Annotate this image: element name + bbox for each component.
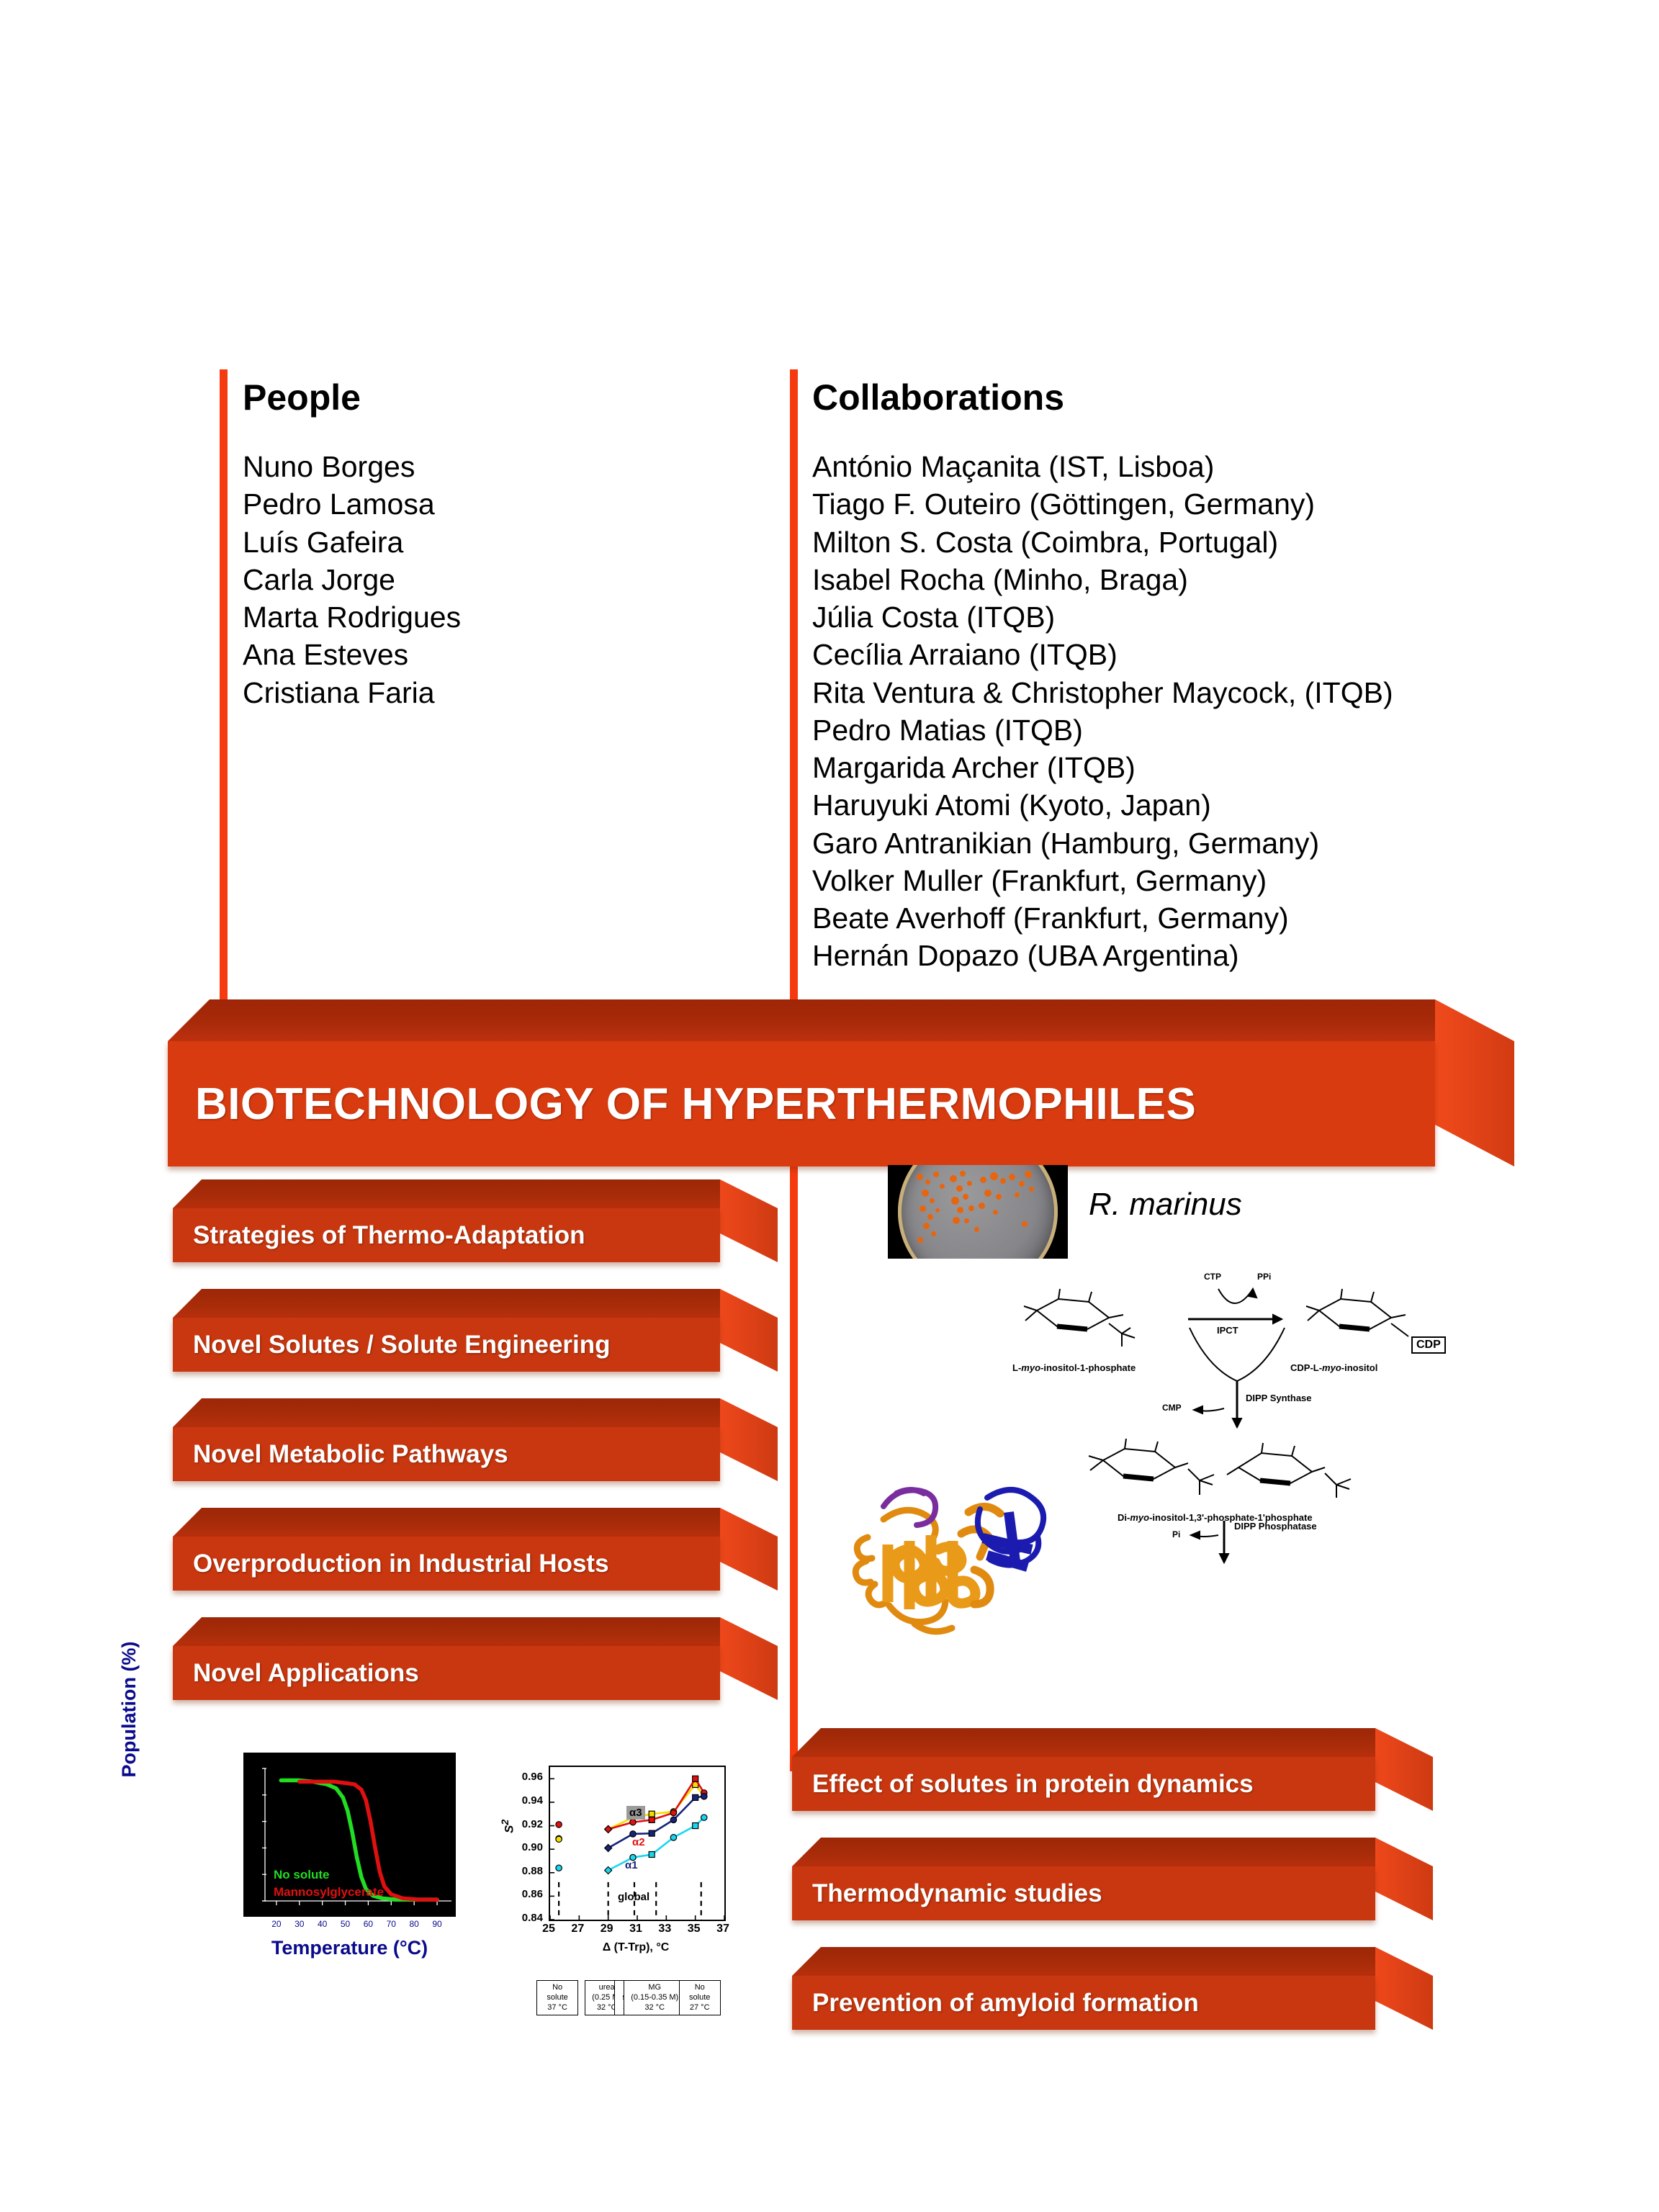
list-item: Rita Ventura & Christopher Maycock, (ITQ… xyxy=(812,674,1393,711)
bar-side-face xyxy=(720,1398,778,1481)
bar-front-face: Novel Solutes / Solute Engineering xyxy=(173,1318,720,1372)
bar-side-face xyxy=(720,1179,778,1262)
cofactor-ppi-label: PPi xyxy=(1257,1272,1271,1282)
protein-melting-curve-chart: Population (%) Temperature (°C) 02040608… xyxy=(164,1744,463,1960)
melt-y-tick: 40 xyxy=(219,1843,238,1851)
s2-x-tick: 31 xyxy=(624,1923,648,1935)
melt-x-tick: 20 xyxy=(266,1919,287,1929)
melt-y-tick: 100 xyxy=(219,1763,238,1772)
topic-bar-metabolic-pathways[interactable]: Novel Metabolic Pathways xyxy=(173,1398,778,1481)
list-item: Haruyuki Atomi (Kyoto, Japan) xyxy=(812,786,1393,824)
byproduct-pi-label: Pi xyxy=(1172,1529,1180,1539)
banner-top-bevel xyxy=(168,999,1435,1041)
topic-label: Strategies of Thermo-Adaptation xyxy=(193,1221,585,1250)
list-item: Hernán Dopazo (UBA Argentina) xyxy=(812,937,1393,974)
center-vertical-rule-lower xyxy=(790,1166,798,1771)
melt-x-tick: 50 xyxy=(335,1919,356,1929)
list-item: Marta Rodrigues xyxy=(243,598,461,636)
condition-box: Nosolute27 °C xyxy=(679,1980,721,2015)
list-item: Pedro Matias (ITQB) xyxy=(812,711,1393,749)
pathway-product1-label: CDP-L-myo-inositol xyxy=(1290,1362,1377,1373)
s2-x-tick: 25 xyxy=(536,1923,561,1935)
s2-x-tick: 37 xyxy=(711,1923,735,1935)
melt-y-tick: 20 xyxy=(219,1869,238,1878)
melt-x-tick: 40 xyxy=(312,1919,333,1929)
list-item: Cristiana Faria xyxy=(243,674,461,711)
condition-line: 27 °C xyxy=(681,2003,719,2013)
pathway-substrate-label: L-myo-inositol-1-phosphate xyxy=(1012,1362,1136,1373)
list-item: Luís Gafeira xyxy=(243,523,461,561)
topic-label: Thermodynamic studies xyxy=(812,1879,1102,1908)
melt-x-tick: 60 xyxy=(357,1919,379,1929)
topic-bar-overproduction[interactable]: Overproduction in Industrial Hosts xyxy=(173,1508,778,1591)
bar-side-face xyxy=(720,1617,778,1700)
organism-label: R. marinus xyxy=(1089,1187,1242,1223)
bar-top-bevel xyxy=(173,1289,720,1318)
bar-top-bevel xyxy=(792,1728,1375,1757)
condition-line: (0.15-0.35 M) xyxy=(626,1993,683,2003)
topic-label: Novel Metabolic Pathways xyxy=(193,1440,508,1469)
melt-x-tick: 80 xyxy=(403,1919,425,1929)
bar-front-face: Novel Applications xyxy=(173,1646,720,1700)
list-item: António Maçanita (IST, Lisboa) xyxy=(812,448,1393,485)
s2-y-tick: 0.88 xyxy=(505,1865,543,1877)
bar-top-bevel xyxy=(173,1617,720,1646)
condition-box: Nosolute37 °C xyxy=(536,1980,578,2015)
s2-y-tick: 0.94 xyxy=(505,1794,543,1807)
condition-line: solute xyxy=(681,1993,719,2003)
bar-front-face: Strategies of Thermo-Adaptation xyxy=(173,1208,720,1262)
list-item: Tiago F. Outeiro (Göttingen, Germany) xyxy=(812,485,1393,523)
melt-y-tick: 80 xyxy=(219,1790,238,1799)
petri-dish-photo xyxy=(888,1165,1068,1259)
melt-chart-xlabel: Temperature (°C) xyxy=(243,1937,456,1959)
melt-y-tick: 0 xyxy=(219,1896,238,1905)
bar-side-face xyxy=(720,1289,778,1372)
byproduct-cmp-label: CMP xyxy=(1162,1403,1182,1413)
melt-legend-mannosylglycerate: Mannosylglycerate xyxy=(274,1885,384,1899)
melt-y-tick: 60 xyxy=(219,1817,238,1825)
condition-line: No xyxy=(539,1983,576,1993)
list-item: Isabel Rocha (Minho, Braga) xyxy=(812,561,1393,598)
bar-top-bevel xyxy=(792,1947,1375,1976)
topic-label: Prevention of amyloid formation xyxy=(812,1989,1199,2018)
topic-bar-amyloid-prevention[interactable]: Prevention of amyloid formation xyxy=(792,1947,1433,2030)
cofactor-ctp-label: CTP xyxy=(1204,1272,1221,1282)
bar-front-face: Thermodynamic studies xyxy=(792,1866,1375,1920)
s2-x-tick: 27 xyxy=(565,1923,590,1935)
banner-front-face: BIOTECHNOLOGY OF HYPERTHERMOPHILES xyxy=(168,1041,1435,1166)
cdp-box: CDP xyxy=(1411,1336,1446,1354)
condition-box: MG(0.15-0.35 M)32 °C xyxy=(624,1980,685,2015)
condition-line: solute xyxy=(539,1993,576,2003)
topic-bar-novel-applications[interactable]: Novel Applications xyxy=(173,1617,778,1700)
people-list: Nuno Borges Pedro Lamosa Luís Gafeira Ca… xyxy=(243,448,461,711)
left-vertical-rule xyxy=(220,369,228,1025)
list-item: Carla Jorge xyxy=(243,561,461,598)
bar-front-face: Overproduction in Industrial Hosts xyxy=(173,1537,720,1591)
s2-series-label: α3 xyxy=(626,1806,645,1820)
condition-line: No xyxy=(681,1983,719,1993)
s2-x-tick: 35 xyxy=(682,1923,706,1935)
bar-top-bevel xyxy=(792,1838,1375,1866)
melt-x-tick: 70 xyxy=(380,1919,402,1929)
s2-x-tick: 29 xyxy=(595,1923,619,1935)
collaborations-heading: Collaborations xyxy=(812,378,1393,418)
enzyme-dipp-synthase-label: DIPP Synthase xyxy=(1246,1393,1312,1403)
s2-y-tick: 0.96 xyxy=(505,1771,543,1783)
s2-y-tick: 0.86 xyxy=(505,1888,543,1900)
order-parameter-chart: S2 Δ (T-Trp), °C 0.840.860.880.900.920.9… xyxy=(504,1750,763,2031)
list-item: Garo Antranikian (Hamburg, Germany) xyxy=(812,824,1393,862)
s2-y-tick: 0.92 xyxy=(505,1818,543,1830)
bar-side-face xyxy=(1375,1947,1433,2030)
condition-line: 37 °C xyxy=(539,2003,576,2013)
collaborations-list: António Maçanita (IST, Lisboa) Tiago F. … xyxy=(812,448,1393,975)
s2-x-tick: 33 xyxy=(652,1923,677,1935)
bar-top-bevel xyxy=(173,1179,720,1208)
banner-side-face xyxy=(1435,999,1514,1166)
list-item: Pedro Lamosa xyxy=(243,485,461,523)
s2-y-tick: 0.90 xyxy=(505,1841,543,1853)
people-column: People Nuno Borges Pedro Lamosa Luís Gaf… xyxy=(243,378,461,711)
bar-side-face xyxy=(1375,1838,1433,1920)
list-item: Júlia Costa (ITQB) xyxy=(812,598,1393,636)
s2-chart-xlabel: Δ (T-Trp), °C xyxy=(549,1941,723,1954)
topic-bar-novel-solutes[interactable]: Novel Solutes / Solute Engineering xyxy=(173,1289,778,1372)
collaborations-column: Collaborations António Maçanita (IST, Li… xyxy=(812,378,1393,975)
people-heading: People xyxy=(243,378,461,418)
s2-series-label: α2 xyxy=(632,1836,645,1848)
bar-side-face xyxy=(720,1508,778,1591)
enzyme-dipp-phosphatase-label: DIPP Phosphatase xyxy=(1234,1521,1317,1532)
list-item: Volker Muller (Frankfurt, Germany) xyxy=(812,862,1393,899)
list-item: Margarida Archer (ITQB) xyxy=(812,749,1393,786)
enzyme-ipct-label: IPCT xyxy=(1217,1325,1238,1336)
melt-chart-ylabel: Population (%) xyxy=(118,1630,140,1789)
melt-x-tick: 30 xyxy=(289,1919,310,1929)
topic-bar-strategies[interactable]: Strategies of Thermo-Adaptation xyxy=(173,1179,778,1262)
bar-front-face: Novel Metabolic Pathways xyxy=(173,1427,720,1481)
s2-series-label: α1 xyxy=(625,1859,638,1871)
list-item: Nuno Borges xyxy=(243,448,461,485)
s2-series-label: global xyxy=(618,1891,649,1903)
banner-title: BIOTECHNOLOGY OF HYPERTHERMOPHILES xyxy=(195,1079,1196,1130)
melt-legend-no-solute: No solute xyxy=(274,1868,329,1882)
melt-x-tick: 90 xyxy=(426,1919,448,1929)
main-title-banner: BIOTECHNOLOGY OF HYPERTHERMOPHILES xyxy=(168,999,1514,1166)
topic-label: Effect of solutes in protein dynamics xyxy=(812,1770,1254,1799)
list-item: Beate Averhoff (Frankfurt, Germany) xyxy=(812,899,1393,937)
topic-label: Novel Solutes / Solute Engineering xyxy=(193,1331,611,1359)
topic-label: Novel Applications xyxy=(193,1659,419,1688)
bar-top-bevel xyxy=(173,1398,720,1427)
topic-label: Overproduction in Industrial Hosts xyxy=(193,1550,609,1578)
list-item: Milton S. Costa (Coimbra, Portugal) xyxy=(812,523,1393,561)
condition-line: MG xyxy=(626,1983,683,1993)
biosynthesis-pathway-diagram: L-myo-inositol-1-phosphate CDP-L-myo-ino… xyxy=(1008,1267,1512,1613)
bar-side-face xyxy=(1375,1728,1433,1811)
topic-bar-protein-dynamics[interactable]: Effect of solutes in protein dynamics xyxy=(792,1728,1433,1811)
condition-line: 32 °C xyxy=(626,2003,683,2013)
topic-bar-thermodynamic-studies[interactable]: Thermodynamic studies xyxy=(792,1838,1433,1920)
bar-top-bevel xyxy=(173,1508,720,1537)
bar-front-face: Prevention of amyloid formation xyxy=(792,1976,1375,2030)
list-item: Cecília Arraiano (ITQB) xyxy=(812,636,1393,673)
bar-front-face: Effect of solutes in protein dynamics xyxy=(792,1757,1375,1811)
list-item: Ana Esteves xyxy=(243,636,461,673)
